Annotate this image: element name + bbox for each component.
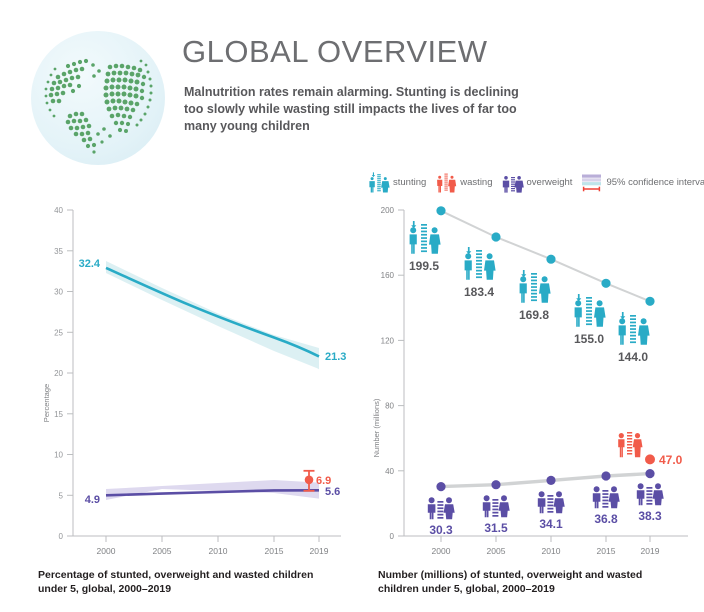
overweight-start-value: 4.9 <box>85 494 100 506</box>
stunting-value-2019: 144.0 <box>618 350 648 364</box>
y-axis-label: Percentage <box>42 384 51 422</box>
stunting-value-2005: 183.4 <box>464 285 494 299</box>
stunting-icon-2000 <box>410 221 441 254</box>
legend-item-overweight[interactable]: overweight <box>502 172 573 193</box>
svg-text:2015: 2015 <box>597 546 616 556</box>
svg-text:25: 25 <box>54 328 63 337</box>
overweight-value-2019: 38.3 <box>638 509 662 523</box>
overweight-icon-2005 <box>483 495 510 517</box>
legend-item-stunting[interactable]: stunting <box>368 172 426 193</box>
y-axis-ticks: 40 35 30 25 20 15 10 5 0 <box>54 206 63 541</box>
legend-label-wasting: wasting <box>460 177 492 188</box>
svg-text:2010: 2010 <box>209 546 228 556</box>
stunting-icon-2010 <box>520 270 551 303</box>
overweight-icon-2000 <box>428 497 455 519</box>
svg-text:2000: 2000 <box>97 546 116 556</box>
y-axis-ticks: 200 160 120 80 40 0 <box>381 206 395 541</box>
wasting-marker <box>645 454 655 464</box>
stunting-icon-2015 <box>575 294 606 327</box>
stunting-value-2000: 199.5 <box>409 259 439 273</box>
stunting-children-icon <box>368 172 390 193</box>
overweight-value-2015: 36.8 <box>594 512 618 526</box>
svg-text:30: 30 <box>54 288 63 297</box>
overweight-children-icon <box>502 172 524 193</box>
svg-text:15: 15 <box>54 410 63 419</box>
svg-text:2000: 2000 <box>432 546 451 556</box>
legend-item-wasting[interactable]: wasting <box>435 172 492 193</box>
stunting-value-2010: 169.8 <box>519 308 549 322</box>
svg-text:10: 10 <box>54 451 63 460</box>
wasting-value: 6.9 <box>316 475 331 487</box>
svg-text:160: 160 <box>381 271 395 280</box>
overweight-icon-2010 <box>538 491 565 513</box>
svg-text:2015: 2015 <box>265 546 284 556</box>
svg-text:35: 35 <box>54 247 63 256</box>
y-axis-label: Number (millions) <box>372 398 381 457</box>
overweight-trend-line <box>441 474 650 487</box>
confidence-interval-icon <box>581 172 602 192</box>
wasting-marker <box>305 476 314 485</box>
svg-text:2005: 2005 <box>487 546 506 556</box>
overweight-value-2005: 31.5 <box>484 521 508 535</box>
page-subtitle: Malnutrition rates remain alarming. Stun… <box>184 84 534 135</box>
x-axis-ticks: 2000 2005 2010 2015 2019 <box>432 546 660 556</box>
wasting-icon-2019 <box>618 432 642 457</box>
svg-text:0: 0 <box>390 532 395 541</box>
svg-text:20: 20 <box>54 369 63 378</box>
legend-item-confidence-interval[interactable]: 95% confidence interval <box>581 172 704 192</box>
svg-text:2005: 2005 <box>153 546 172 556</box>
stunting-icon-2019 <box>619 312 650 345</box>
caption-number-chart: Number (millions) of stunted, overweight… <box>378 568 678 596</box>
svg-text:2010: 2010 <box>542 546 561 556</box>
svg-text:2019: 2019 <box>310 546 329 556</box>
svg-text:40: 40 <box>54 206 63 215</box>
svg-text:40: 40 <box>385 467 394 476</box>
header: GLOBAL OVERVIEW Malnutrition rates remai… <box>0 0 704 168</box>
percentage-chart[interactable]: Percentage 40 35 30 25 20 15 10 5 0 <box>14 198 354 558</box>
number-chart[interactable]: Number (millions) 200 160 120 80 40 0 <box>358 198 698 558</box>
svg-text:80: 80 <box>385 402 394 411</box>
x-axis-ticks: 2000 2005 2010 2015 2019 <box>97 546 329 556</box>
svg-text:120: 120 <box>381 336 395 345</box>
stunting-value-2015: 155.0 <box>574 332 604 346</box>
stunting-start-value: 32.4 <box>79 258 101 270</box>
svg-text:5: 5 <box>59 491 64 500</box>
overweight-value-2010: 34.1 <box>539 517 563 531</box>
legend-label-confidence-interval: 95% confidence interval <box>606 177 704 188</box>
stunting-end-value: 21.3 <box>325 351 346 363</box>
legend-label-stunting: stunting <box>393 177 426 188</box>
page-title: GLOBAL OVERVIEW <box>182 34 488 70</box>
svg-text:2019: 2019 <box>641 546 660 556</box>
svg-text:0: 0 <box>59 532 64 541</box>
overweight-end-value: 5.6 <box>325 486 340 498</box>
overweight-icon-2019 <box>637 483 664 505</box>
caption-percentage-chart: Percentage of stunted, overweight and wa… <box>38 568 338 596</box>
globe-icon <box>24 24 172 172</box>
wasting-value-2019: 47.0 <box>659 453 683 467</box>
overweight-icon-2015 <box>593 486 620 508</box>
chart-legend: stunting <box>368 170 698 194</box>
legend-label-overweight: overweight <box>527 177 573 188</box>
overweight-value-2000: 30.3 <box>429 523 453 537</box>
svg-text:200: 200 <box>381 206 395 215</box>
wasting-children-icon <box>435 172 457 193</box>
stunting-icon-2005 <box>465 247 496 280</box>
